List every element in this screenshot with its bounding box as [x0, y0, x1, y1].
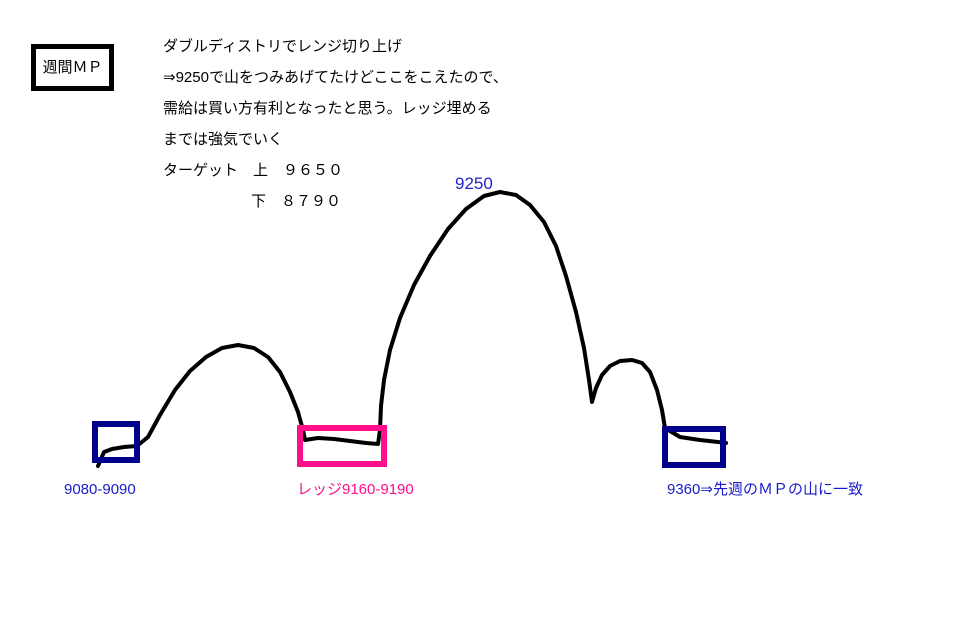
profile-line-path — [98, 192, 726, 466]
zone-box-right[interactable] — [662, 426, 726, 468]
peak-price-label: 9250 — [455, 175, 493, 192]
zone-box-center[interactable] — [297, 425, 387, 467]
zone-label-center: レッジ9160-9190 — [297, 482, 414, 497]
drawing-canvas: 週間ＭＰ ダブルディストリでレンジ切り上げ ⇒9250で山をつみあげてたけどここ… — [0, 0, 972, 618]
market-profile-curve — [0, 0, 972, 618]
zone-label-right: 9360⇒先週のＭＰの山に一致 — [667, 482, 863, 497]
zone-label-left: 9080-9090 — [64, 482, 136, 497]
zone-box-left[interactable] — [92, 421, 140, 463]
